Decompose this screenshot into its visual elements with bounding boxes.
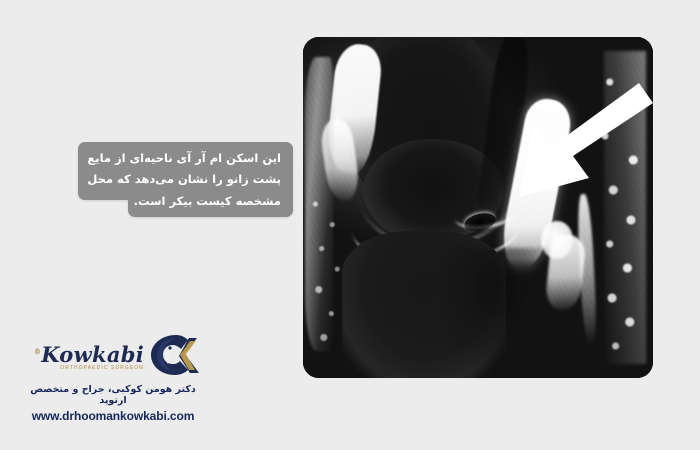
- kowkabi-emblem-icon: [146, 332, 208, 378]
- callout-line-3-wrap: مشخصه کیست بیکر است.: [78, 190, 293, 217]
- logo-name-text: Kowkabi: [41, 342, 144, 367]
- brand-block: Kowkabi® Orthopaedic Surgeon دکتر هومن ک…: [18, 332, 208, 423]
- brand-website[interactable]: www.drhoomankowkabi.com: [18, 409, 208, 423]
- page-root: این اسکن ام آر آی ناحیه‌ای از مایع پشت ز…: [0, 0, 700, 450]
- logo-lockup: Kowkabi® Orthopaedic Surgeon: [18, 332, 208, 378]
- logo-name: Kowkabi®: [34, 341, 144, 366]
- callout-notch: [78, 190, 130, 200]
- callout-line-2: پشت زانو را نشان می‌دهد که محل: [78, 169, 293, 190]
- callout-line-1: این اسکن ام آر آی ناحیه‌ای از مایع: [78, 142, 293, 169]
- mri-noise-texture: [303, 37, 653, 378]
- callout-bubble: این اسکن ام آر آی ناحیه‌ای از مایع پشت ز…: [78, 142, 293, 217]
- brand-tagline: دکتر هومن کوکبی، جراح و متخصص ارتوپد: [18, 384, 208, 406]
- logo-wordmark: Kowkabi® Orthopaedic Surgeon: [34, 341, 144, 371]
- mri-image: [303, 37, 653, 378]
- callout-line-3: مشخصه کیست بیکر است.: [128, 190, 293, 217]
- mri-image-panel: [303, 37, 653, 378]
